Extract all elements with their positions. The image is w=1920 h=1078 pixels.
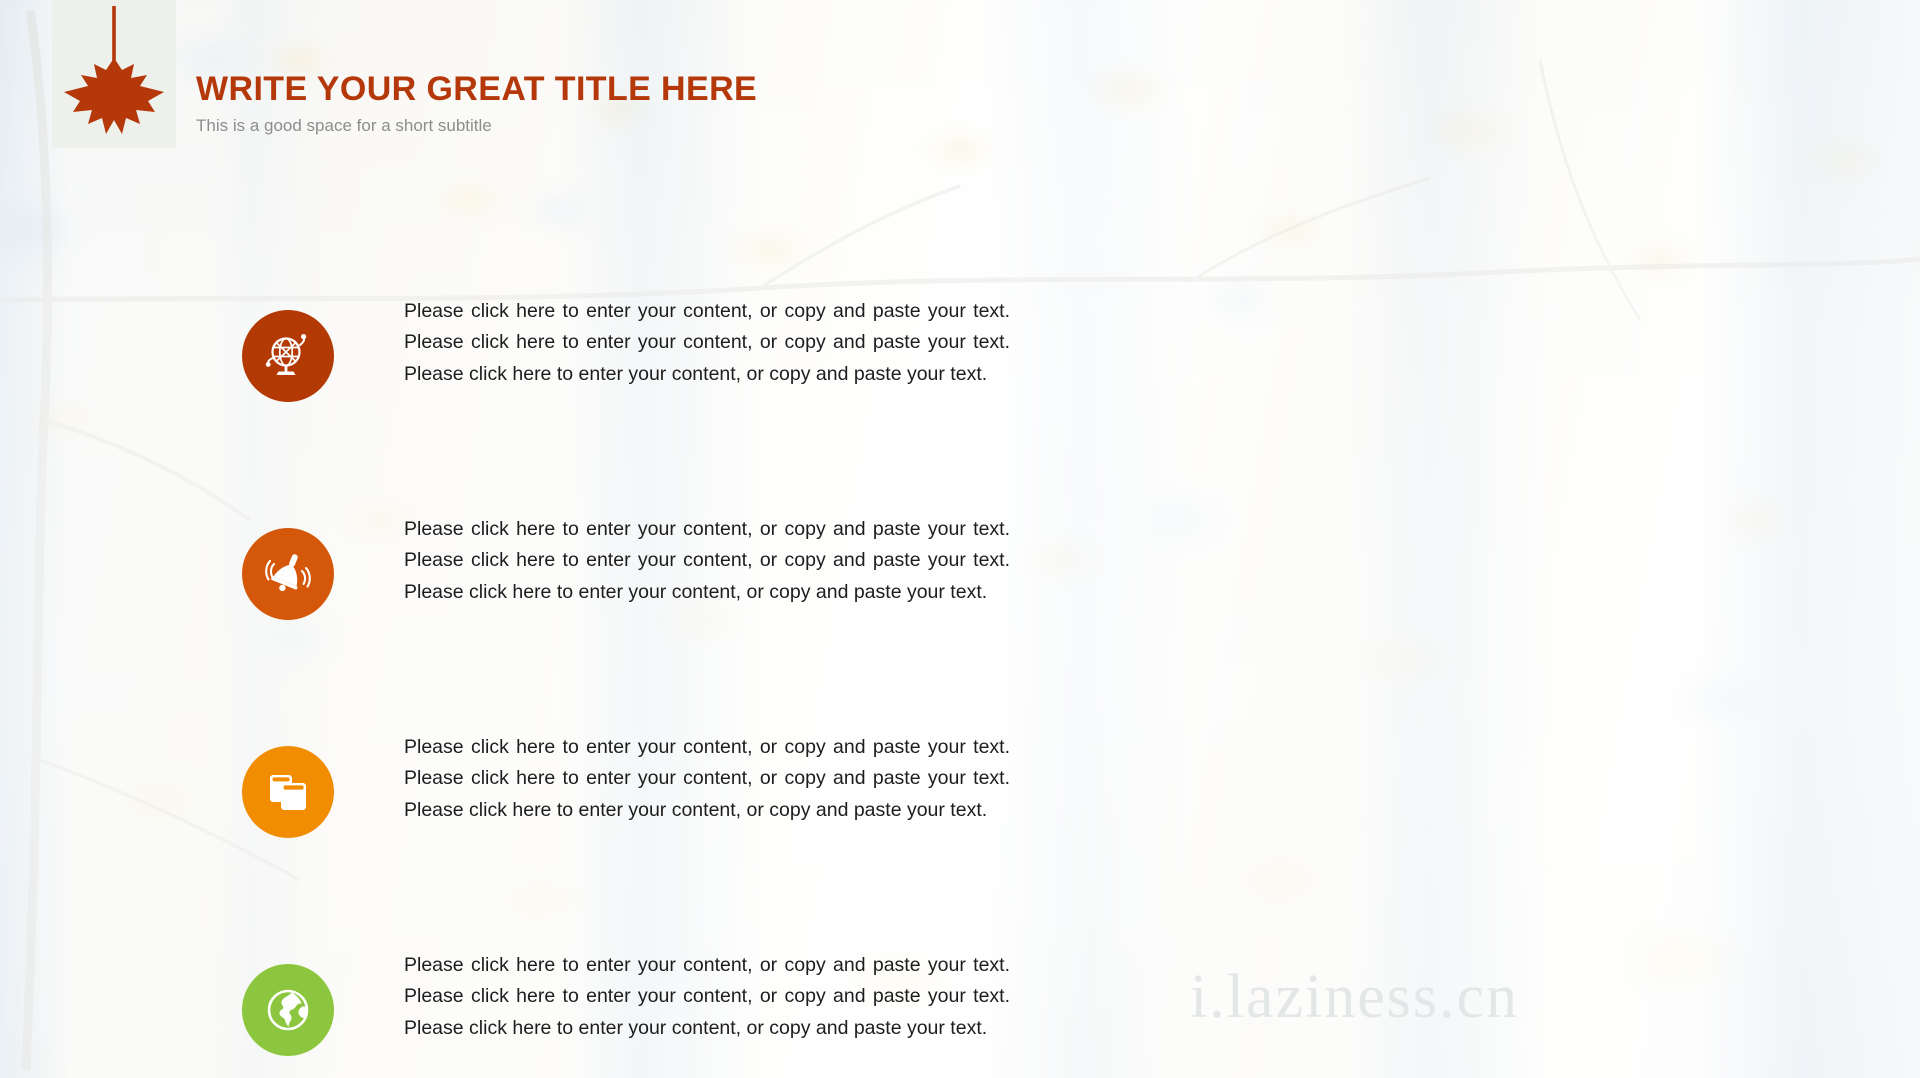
list-item[interactable]: Please click here to enter your content,… (242, 950, 1010, 1078)
list-item-text: Please click here to enter your content,… (404, 732, 1010, 826)
content-grid: Please click here to enter your content,… (0, 296, 1920, 1078)
right-column: Please click here to enter your content,… (1010, 296, 1920, 1078)
list-item-text: Please click here to enter your content,… (404, 950, 1010, 1044)
watermark: i.laziness.cn (1190, 962, 1519, 1033)
slide-canvas: WRITE YOUR GREAT TITLE HERE This is a go… (0, 0, 1920, 1078)
page-title: WRITE YOUR GREAT TITLE HERE (196, 72, 757, 108)
hanging-maple-leaf-icon (52, 0, 176, 148)
title-block: WRITE YOUR GREAT TITLE HERE This is a go… (196, 72, 757, 136)
earth-globe-icon[interactable] (242, 964, 334, 1056)
list-item-text: Please click here to enter your content,… (404, 296, 1010, 390)
page-subtitle: This is a good space for a short subtitl… (196, 116, 757, 136)
left-column: Please click here to enter your content,… (0, 296, 1010, 1078)
list-item[interactable]: Please click here to enter your content,… (242, 514, 1010, 732)
logo-panel (52, 0, 176, 148)
list-item-text: Please click here to enter your content,… (404, 514, 1010, 608)
list-item[interactable]: Please click here to enter your content,… (242, 296, 1010, 514)
books-stack-icon[interactable] (242, 746, 334, 838)
list-item[interactable]: Please click here to enter your content,… (242, 732, 1010, 950)
globe-stand-icon[interactable] (242, 310, 334, 402)
hand-bell-icon[interactable] (242, 528, 334, 620)
